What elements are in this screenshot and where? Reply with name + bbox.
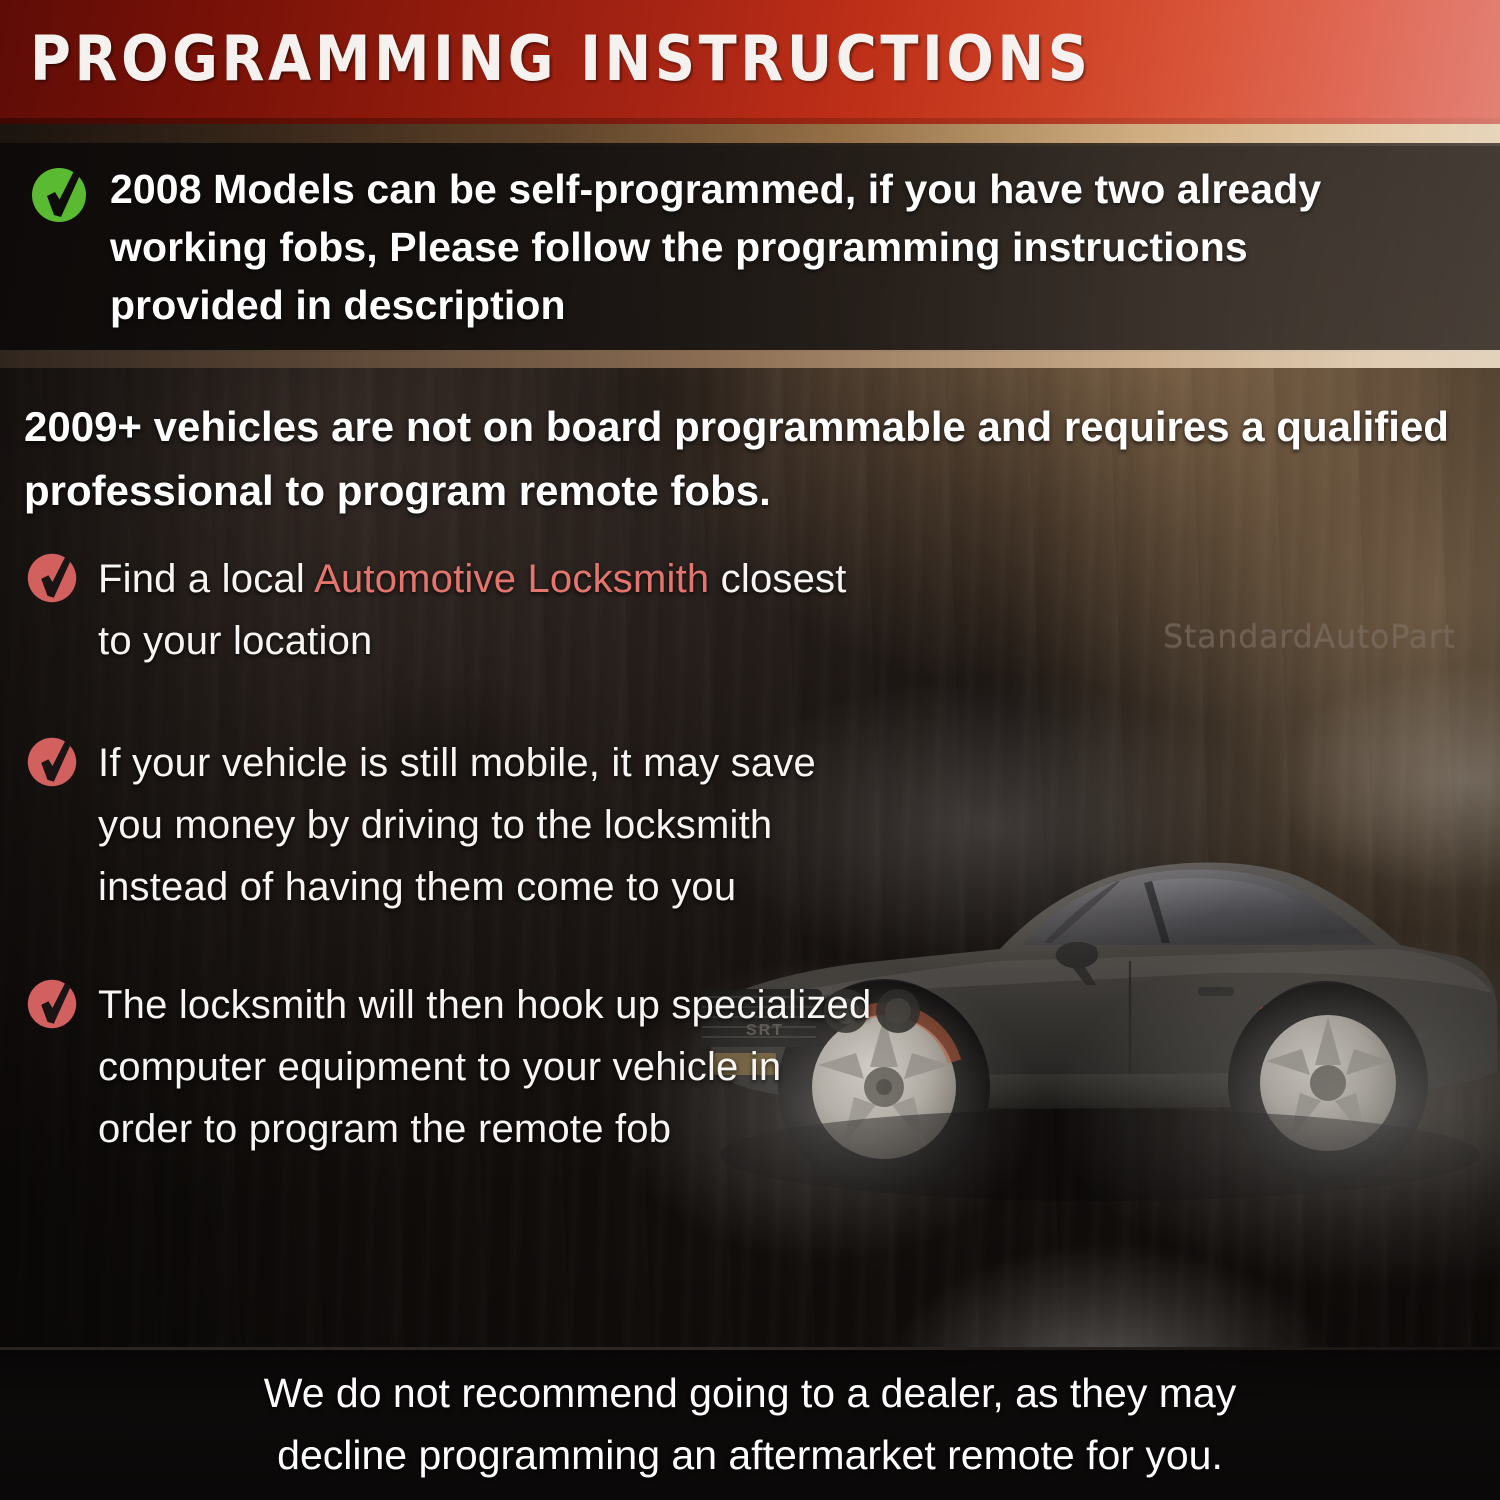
page-title: PROGRAMMING INSTRUCTIONS xyxy=(30,28,1091,90)
header-banner: PROGRAMMING INSTRUCTIONS xyxy=(0,0,1500,124)
green-check-badge-icon xyxy=(30,166,88,229)
bullet-list: Find a local Automotive Locksmith closes… xyxy=(26,548,886,1160)
bullet-1-accent: Automotive Locksmith xyxy=(314,557,709,601)
list-item-text: The locksmith will then hook up speciali… xyxy=(98,974,886,1160)
list-item: The locksmith will then hook up speciali… xyxy=(26,974,886,1160)
red-check-badge-icon xyxy=(26,552,78,609)
red-check-badge-icon xyxy=(26,978,78,1035)
footer-text: We do not recommend going to a dealer, a… xyxy=(204,1362,1296,1486)
red-check-badge-icon xyxy=(26,736,78,793)
secondary-headline: 2009+ vehicles are not on board programm… xyxy=(24,395,1464,523)
top-note: 2008 Models can be self-programmed, if y… xyxy=(30,160,1390,334)
list-item: If your vehicle is still mobile, it may … xyxy=(26,732,886,918)
programming-instructions-infographic: SRT PROGRAMMING INSTRUCTIONS xyxy=(0,0,1500,1500)
top-note-text: 2008 Models can be self-programmed, if y… xyxy=(110,160,1370,334)
list-item-text: Find a local Automotive Locksmith closes… xyxy=(98,548,886,672)
bullet-1-lead: Find a local xyxy=(98,557,314,601)
brand-watermark: StandardAutoPart xyxy=(1163,617,1456,655)
list-item: Find a local Automotive Locksmith closes… xyxy=(26,548,886,672)
list-item-text: If your vehicle is still mobile, it may … xyxy=(98,732,886,918)
footer-banner: We do not recommend going to a dealer, a… xyxy=(0,1347,1500,1500)
